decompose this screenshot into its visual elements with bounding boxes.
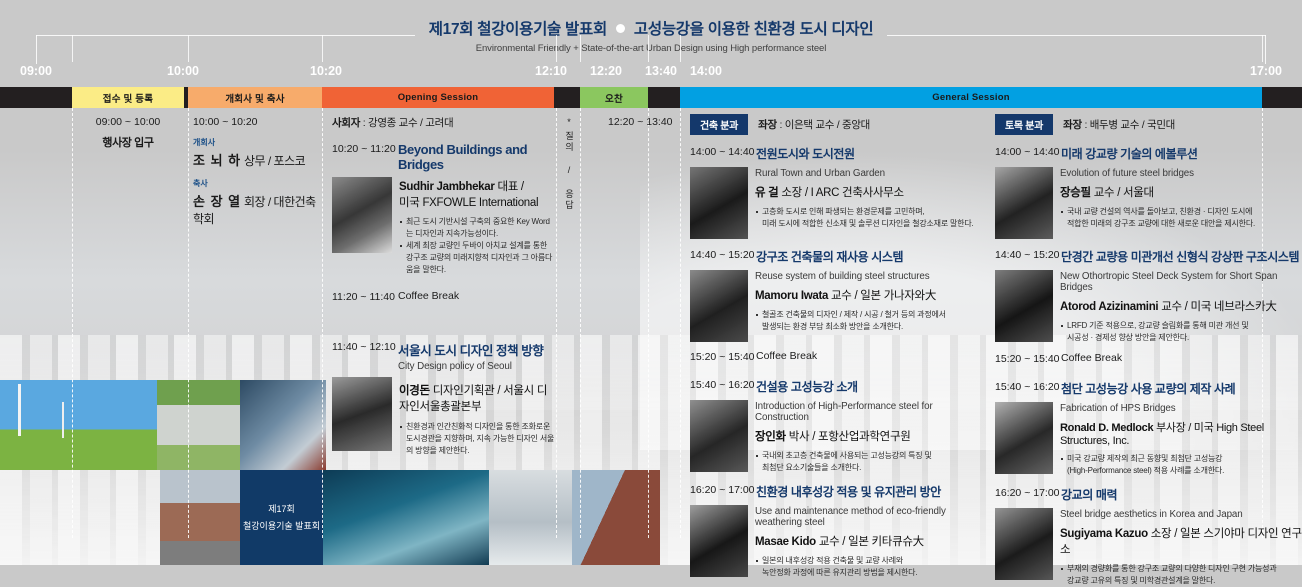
speaker-role: 교수 / 미국 네브라스카大 (1161, 301, 1276, 313)
divider (188, 108, 189, 538)
talk-speaker: Masae Kido 교수 / 일본 키타큐슈大 (755, 533, 980, 549)
talk-item: 10:20 ~ 11:20 Beyond Buildings and Bridg… (332, 142, 556, 172)
coffee-time: 11:20 ~ 11:40 (332, 290, 398, 303)
talk-item: 15:40 ~ 16:20 건설용 고성능강 소개 (690, 378, 980, 395)
speaker-photo (332, 177, 392, 253)
talk-title-en: Reuse system of building steel structure… (755, 271, 980, 282)
coffee-break-row: 15:20 ~ 15:40 Coffee Break (690, 350, 980, 363)
talk-speaker: 유 걸 소장 / I ARC 건축사사무소 (755, 184, 980, 200)
speaker-name: Ronald D. Medlock (1060, 422, 1153, 434)
coffee-label: Coffee Break (756, 350, 817, 363)
column-lunch: 12:20 ~ 13:40 (608, 108, 680, 573)
talk-title-ko: 강구조 건축물의 재사용 시스템 (756, 248, 980, 265)
chair-value: : 이은택 교수 / 중앙대 (779, 119, 870, 131)
talk-title-ko: 친환경 내후성강 적용 및 유지관리 방안 (756, 483, 980, 500)
timeline-tick-label: 14:00 (690, 64, 722, 78)
talk-title-en: Fabrication of HPS Bridges (1060, 403, 1302, 414)
speaker-role: 소장 / I ARC 건축사사무소 (781, 187, 903, 199)
poster-header: 제17회 철강이용기술 발표회 고성능강을 이용한 친환경 도시 디자인 Env… (0, 0, 1302, 62)
talk-bullet: 녹안정화 과정에 따른 유지관리 방법을 제시한다. (755, 567, 980, 579)
speaker-name: Masae Kido (755, 536, 816, 548)
talk-bullet: 친환경과 인간친화적 디자인을 통한 조화로운 도시경관을 지향하며, 지속 가… (399, 421, 556, 457)
talk-title-ko: 서울시 도시 디자인 정책 방향 (398, 340, 556, 359)
timeline-tick-label: 12:20 (590, 64, 622, 78)
architecture-chair: 좌장 : 이은택 교수 / 중앙대 (758, 117, 870, 132)
talk-speaker: Ronald D. Medlock 부사장 / 미국 High Steel St… (1060, 419, 1302, 447)
talk-item: 14:40 ~ 15:20 단경간 교량용 미관개선 신형식 강상판 구조시스템 (995, 248, 1302, 265)
registration-venue: 행사장 입구 (72, 134, 184, 150)
speaker-photo (690, 400, 748, 472)
talk-bullet: 시공성 · 경제성 향상 방안을 제안한다. (1060, 332, 1302, 344)
timeline-tick-label: 10:00 (167, 64, 199, 78)
coffee-break-row: 15:20 ~ 15:40 Coffee Break (995, 352, 1302, 365)
column-civil-track: 토목 분과 좌장 : 배두병 교수 / 국민대 14:00 ~ 14:40 미래… (995, 108, 1302, 571)
speaker-role: 대표 / (497, 181, 523, 193)
talk-title-en: New Othortropic Steel Deck System for Sh… (1060, 271, 1302, 293)
speaker-role: 교수 / 일본 가나자와大 (831, 290, 936, 302)
talk-speaker: 이경돈 디자인기획관 / 서울시 디자인서울총괄본부 (399, 382, 556, 414)
opening-chair-value: : 강영종 교수 / 고려대 (363, 117, 454, 129)
talk-speaker: Atorod Azizinamini 교수 / 미국 네브라스카大 (1060, 298, 1302, 314)
timeline-segment-개회사 및 축사: 개회사 및 축사 (188, 87, 322, 108)
talk-title-ko: Beyond Buildings and Bridges (398, 142, 556, 172)
talk-item: 16:20 ~ 17:00 강교의 매력 (995, 486, 1302, 503)
timeline-bar: 접수 및 등록개회사 및 축사Opening Session오찬General … (0, 87, 1302, 108)
coffee-label: Coffee Break (398, 290, 459, 303)
talk-speaker: 장인화 박사 / 포항산업과학연구원 (755, 428, 980, 444)
speaker-role: 교수 / 일본 키타큐슈大 (819, 536, 924, 548)
remark-name-1: 손 장 열 (193, 194, 241, 209)
talk-time: 14:00 ~ 14:40 (995, 145, 1061, 162)
lunch-time: 12:20 ~ 13:40 (608, 116, 680, 128)
timeline-tick-label: 10:20 (310, 64, 342, 78)
speaker-name: 장인화 (755, 431, 786, 443)
talk-item: 14:00 ~ 14:40 미래 강교량 기술의 에볼루션 (995, 145, 1302, 162)
talk-time: 14:00 ~ 14:40 (690, 145, 756, 162)
timeline-tick-label: 17:00 (1250, 64, 1282, 78)
timeline-segment-접수 및 등록: 접수 및 등록 (72, 87, 184, 108)
page-title: 제17회 철강이용기술 발표회 고성능강을 이용한 친환경 도시 디자인 (415, 17, 888, 39)
qa-star: * (560, 116, 578, 128)
talk-bullet: 적합한 미래의 강구조 교량에 대한 새로운 대안을 제시한다. (1060, 218, 1302, 230)
talk-speaker: 장승필 교수 / 서울대 (1060, 184, 1302, 200)
talk-bullet: 강교량 고유의 특징 및 미학경관설계을 말한다. (1060, 575, 1302, 587)
talk-title-en: Use and maintenance method of eco-friend… (755, 506, 980, 528)
timeline-tick-label: 13:40 (645, 64, 677, 78)
coffee-label: Coffee Break (1061, 352, 1122, 365)
speaker-photo (995, 270, 1053, 342)
speaker-name: Sugiyama Kazuo (1060, 528, 1148, 540)
talk-title-ko: 첨단 고성능강 사용 교량의 제작 사례 (1061, 380, 1302, 397)
talk-time: 14:40 ~ 15:20 (690, 248, 756, 265)
talk-bullet: 일본의 내후성강 적용 건축물 및 교량 사례와 (755, 555, 980, 567)
timeline-tick-mark (680, 35, 681, 62)
talk-bullet: 국내외 초고층 건축물에 사용되는 고성능강의 특징 및 (755, 450, 980, 462)
track-tag-architecture: 건축 분과 (690, 114, 748, 135)
timeline-tick-mark (580, 35, 581, 62)
timeline-tick-mark (648, 35, 649, 62)
talk-time: 16:20 ~ 17:00 (690, 483, 756, 500)
talk-time: 15:40 ~ 16:20 (690, 378, 756, 395)
talk-bullet: 철골조 건축물의 디자인 / 제작 / 시공 / 철거 등의 과정에서 (755, 309, 980, 321)
divider (580, 108, 581, 538)
talk-bullet: LRFD 기준 적용으로, 강교량 슬림화를 통해 미관 개선 및 (1060, 320, 1302, 332)
timeline-tick-mark (72, 35, 73, 62)
talk-bullet: 미국 강교량 제작의 최근 동향및 최첨단 고성능강 (1060, 453, 1302, 465)
chair-label: 좌장 (1063, 119, 1082, 131)
talk-time: 16:20 ~ 17:00 (995, 486, 1061, 503)
talk-bullet: 발생되는 환경 부담 최소화 방안을 소개한다. (755, 321, 980, 333)
remark-affiliation-0: 상무 / 포스코 (244, 154, 305, 168)
timeline-tick-label: 09:00 (20, 64, 52, 78)
speaker-name: Mamoru Iwata (755, 290, 828, 302)
column-architecture-track: 건축 분과 좌장 : 이은택 교수 / 중앙대 14:00 ~ 14:40 전원… (690, 108, 980, 571)
divider (680, 108, 681, 538)
talk-title-ko: 전원도시와 도시전원 (756, 145, 980, 162)
page-subtitle: Environmental Friendly + State-of-the-ar… (0, 43, 1302, 54)
talk-bullet: (High-Performance steel) 적용 사례를 소개한다. (1060, 465, 1302, 477)
timeline-segment-Opening Session: Opening Session (322, 87, 554, 108)
coffee-time: 15:20 ~ 15:40 (995, 352, 1061, 365)
timeline-segment-General Session: General Session (680, 87, 1262, 108)
speaker-name: 이경돈 (399, 385, 430, 397)
talk-item: 14:00 ~ 14:40 전원도시와 도시전원 (690, 145, 980, 162)
talk-time: 15:40 ~ 16:20 (995, 380, 1061, 397)
speaker-name: 장승필 (1060, 187, 1091, 199)
talk-title-ko: 강교의 매력 (1061, 486, 1302, 503)
talk-bullet: 최첨단 요소기술들을 소개한다. (755, 462, 980, 474)
speaker-role: 박사 / 포항산업과학연구원 (789, 431, 911, 443)
timeline-tick-mark (322, 35, 323, 62)
talk-bullet: 국내 교량 건설의 역사를 돌아보고, 친환경 · 디자인 도시에 (1060, 206, 1302, 218)
speaker-name: 유 걸 (755, 187, 778, 199)
talk-affiliation: 미국 FXFOWLE International (399, 194, 556, 210)
talk-title-en: Introduction of High-Performance steel f… (755, 401, 980, 423)
talk-time: 11:40 ~ 12:10 (332, 340, 398, 372)
talk-item: 14:40 ~ 15:20 강구조 건축물의 재사용 시스템 (690, 248, 980, 265)
talk-time: 14:40 ~ 15:20 (995, 248, 1061, 265)
divider (556, 108, 557, 538)
opening-remarks-time: 10:00 ~ 10:20 (193, 116, 318, 128)
opening-chair: 사회자 : 강영종 교수 / 고려대 (332, 115, 556, 130)
civil-chair: 좌장 : 배두병 교수 / 국민대 (1063, 117, 1175, 132)
remark-person-0: 조 뇌 하 상무 / 포스코 (193, 150, 318, 169)
speaker-photo (995, 508, 1053, 580)
bullet-dot-icon (616, 24, 625, 33)
talk-title-en: City Design policy of Seoul (398, 361, 556, 372)
speaker-photo (995, 402, 1053, 474)
timeline-tick-mark (188, 35, 189, 62)
speaker-photo (332, 377, 392, 451)
chair-label: 좌장 (758, 119, 777, 131)
timeline-tick-mark (556, 35, 557, 62)
talk-bullet: 고층화 도시로 인해 파생되는 환경문제를 고민하며, (755, 206, 980, 218)
talk-time: 10:20 ~ 11:20 (332, 142, 398, 172)
schedule-columns: 09:00 ~ 10:00 행사장 입구 10:00 ~ 10:20 개회사 조… (0, 108, 1302, 565)
talk-title-en: Rural Town and Urban Garden (755, 168, 980, 179)
timeline-tick-label: 12:10 (535, 64, 567, 78)
title-ko-secondary: 고성능강을 이용한 친환경 도시 디자인 (634, 17, 873, 39)
registration-time: 09:00 ~ 10:00 (72, 116, 184, 128)
column-opening-remarks: 10:00 ~ 10:20 개회사 조 뇌 하 상무 / 포스코 축사 손 장 … (193, 108, 318, 573)
chair-value: : 배두병 교수 / 국민대 (1084, 119, 1175, 131)
coffee-time: 15:20 ~ 15:40 (690, 350, 756, 363)
talk-bullet: 미래 도시에 적합한 신소재 및 솔루션 디자인을 철강소재로 말한다. (755, 218, 980, 230)
opening-chair-label: 사회자 (332, 117, 360, 129)
coffee-break-row: 11:20 ~ 11:40 Coffee Break (332, 290, 556, 303)
talk-bullet: 세계 최장 교량인 두바이 아치교 설계를 통한 강구조 교량의 미래지향적 디… (399, 240, 556, 276)
speaker-role: 교수 / 서울대 (1094, 187, 1154, 199)
speaker-photo (690, 167, 748, 239)
remark-role-1: 축사 (193, 178, 318, 189)
poster-root: 제17회 철강이용기술 발표회 제17회 철강이용기술 발표회 고성능강을 이용… (0, 0, 1302, 565)
speaker-photo (690, 270, 748, 342)
talk-speaker: Sugiyama Kazuo 소장 / 일본 스기야마 디자인 연구소 (1060, 525, 1302, 557)
track-tag-civil: 토목 분과 (995, 114, 1053, 135)
timeline-segment-오찬: 오찬 (580, 87, 648, 108)
remark-name-0: 조 뇌 하 (193, 153, 241, 168)
talk-item: 11:40 ~ 12:10 서울시 도시 디자인 정책 방향 City Desi… (332, 340, 556, 372)
talk-title-ko: 단경간 교량용 미관개선 신형식 강상판 구조시스템 (1061, 248, 1302, 265)
divider (322, 108, 323, 538)
remark-role-0: 개회사 (193, 137, 318, 148)
talk-item: 16:20 ~ 17:00 친환경 내후성강 적용 및 유지관리 방안 (690, 483, 980, 500)
speaker-photo (995, 167, 1053, 239)
talk-title-en: Evolution of future steel bridges (1060, 168, 1302, 179)
speaker-name: Sudhir Jambhekar (399, 181, 495, 193)
timeline-tick-mark (1262, 35, 1263, 62)
column-registration: 09:00 ~ 10:00 행사장 입구 (72, 108, 184, 573)
qa-text: 질의 / 응답 (563, 131, 575, 211)
talk-title-ko: 건설용 고성능강 소개 (756, 378, 980, 395)
talk-title-en: Steel bridge aesthetics in Korea and Jap… (1060, 509, 1302, 520)
qa-vertical-note: * 질의 / 응답 (560, 116, 578, 214)
talk-bullet: 최근 도시 기반시설 구축의 중요한 Key Word는 디자인과 지속가능성이… (399, 216, 556, 240)
speaker-photo (690, 505, 748, 577)
talk-speaker: Mamoru Iwata 교수 / 일본 가나자와大 (755, 287, 980, 303)
remark-person-1: 손 장 열 회장 / 대한건축학회 (193, 191, 318, 227)
column-opening-session: 사회자 : 강영종 교수 / 고려대 10:20 ~ 11:20 Beyond … (332, 108, 556, 572)
talk-title-ko: 미래 강교량 기술의 에볼루션 (1061, 145, 1302, 162)
speaker-name: Atorod Azizinamini (1060, 301, 1158, 313)
talk-speaker: Sudhir Jambhekar 대표 / (399, 178, 556, 194)
talk-item: 15:40 ~ 16:20 첨단 고성능강 사용 교량의 제작 사례 (995, 380, 1302, 397)
timeline-axis: 09:0010:0010:2012:1012:2013:4014:0017:00 (0, 62, 1302, 87)
